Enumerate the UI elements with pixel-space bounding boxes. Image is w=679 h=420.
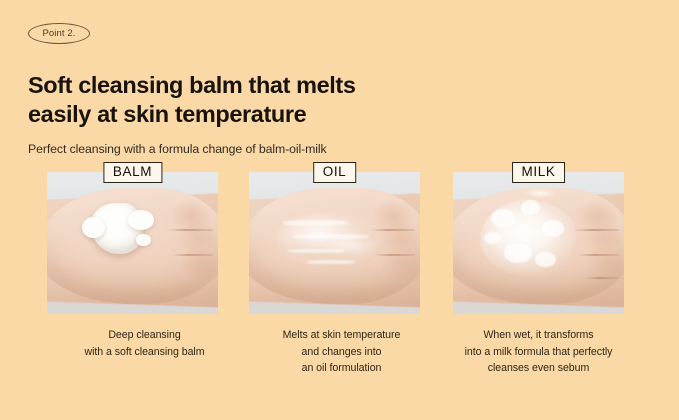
photo-milk: [453, 172, 624, 314]
point-badge: Point 2.: [28, 23, 90, 44]
photo-oil: [249, 172, 420, 314]
card-milk: MILK When wet, it transforms into a milk…: [441, 160, 636, 314]
cards-row: BALM Deep cleansing with a soft cleansin…: [0, 160, 679, 410]
milk-bubble-icon: [484, 232, 501, 245]
milk-bubble-icon: [521, 200, 540, 214]
page-title: Soft cleansing balm that melts easily at…: [28, 71, 458, 130]
page-subtitle: Perfect cleansing with a formula change …: [28, 142, 327, 157]
balm-speck-icon: [136, 234, 151, 245]
oil-streak-icon: [307, 260, 355, 264]
finger-line-icon: [574, 229, 618, 231]
photo-wrap-milk: MILK: [453, 172, 624, 314]
oil-streak-icon: [283, 220, 348, 226]
photo-tag-oil: OIL: [313, 162, 357, 183]
page-title-line-2: easily at skin temperature: [28, 100, 458, 130]
photo-balm: [47, 172, 218, 314]
caption-oil: Melts at skin temperature and changes in…: [244, 327, 439, 377]
wrist-shadow-icon: [47, 283, 218, 314]
oil-streak-icon: [287, 249, 345, 253]
caption-line: When wet, it transforms: [441, 327, 636, 344]
card-oil: OIL Melts at skin temperature and change…: [244, 160, 439, 314]
caption-line: into a milk formula that perfectly: [441, 344, 636, 361]
caption-line: an oil formulation: [244, 360, 439, 377]
infographic-page: Point 2. Soft cleansing balm that melts …: [0, 0, 679, 420]
photo-tag-label: OIL: [323, 165, 347, 179]
photo-wrap-balm: BALM: [47, 172, 218, 314]
milk-bubble-icon: [504, 243, 531, 263]
caption-line: Melts at skin temperature: [244, 327, 439, 344]
point-badge-label: Point 2.: [42, 29, 75, 39]
photo-wrap-oil: OIL: [249, 172, 420, 314]
wrist-shadow-icon: [453, 283, 624, 314]
caption-balm: Deep cleansing with a soft cleansing bal…: [47, 327, 242, 360]
photo-tag-label: MILK: [522, 165, 556, 179]
caption-line: Deep cleansing: [47, 327, 242, 344]
photo-tag-milk: MILK: [512, 162, 566, 183]
photo-tag-balm: BALM: [103, 162, 162, 183]
page-title-line-1: Soft cleansing balm that melts: [28, 71, 458, 101]
card-balm: BALM Deep cleansing with a soft cleansin…: [47, 160, 242, 314]
finger-line-icon: [168, 229, 212, 231]
finger-line-icon: [585, 277, 619, 279]
wrist-shadow-icon: [249, 283, 420, 314]
caption-line: and changes into: [244, 344, 439, 361]
milk-bubble-icon: [535, 252, 556, 268]
caption-line: cleanses even sebum: [441, 360, 636, 377]
photo-tag-label: BALM: [113, 165, 152, 179]
caption-line: with a soft cleansing balm: [47, 344, 242, 361]
caption-milk: When wet, it transforms into a milk form…: [441, 327, 636, 377]
milk-bubble-icon: [491, 209, 515, 227]
